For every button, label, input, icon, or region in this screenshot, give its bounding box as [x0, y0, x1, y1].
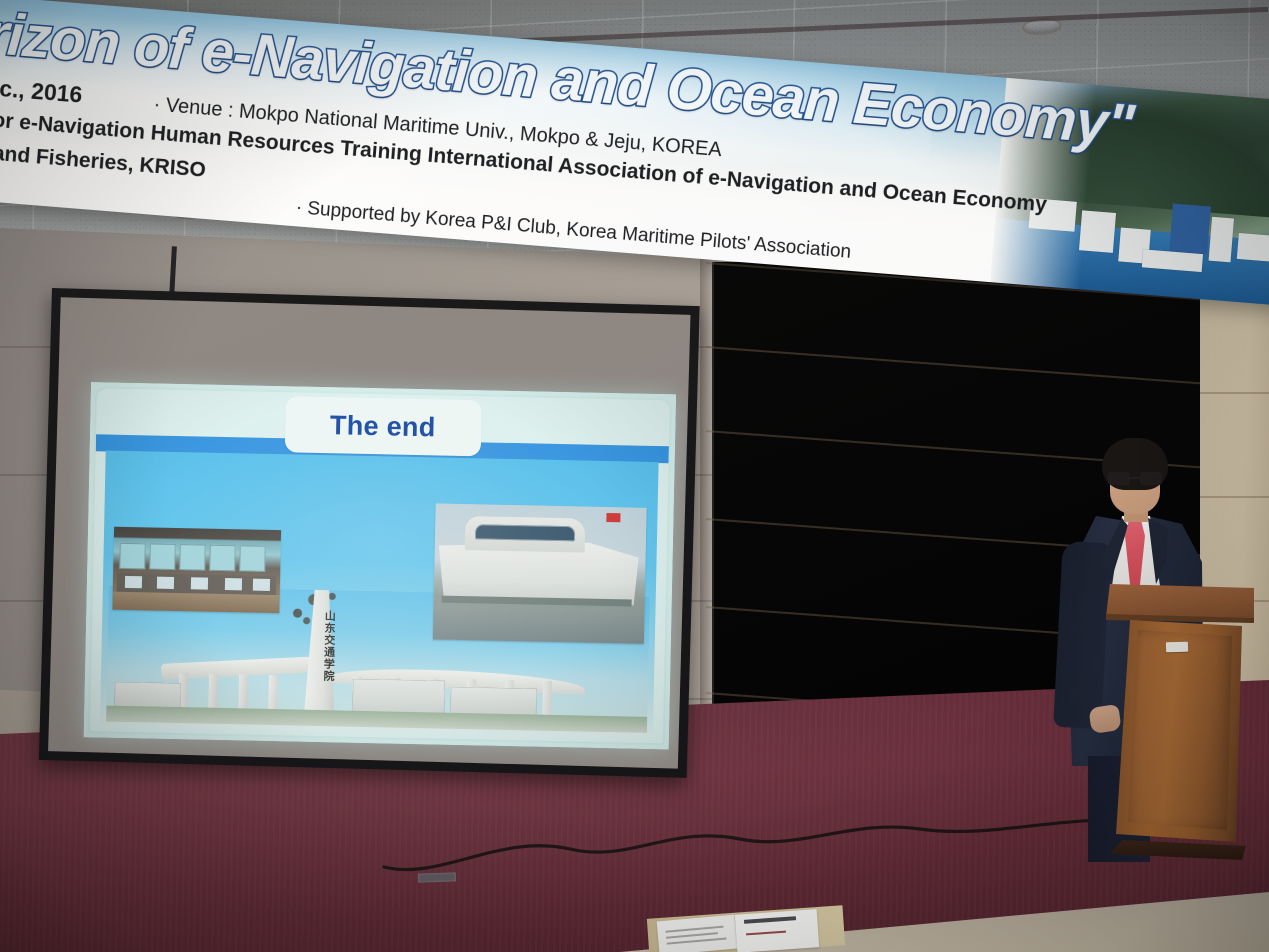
podium-sticker: [1166, 642, 1188, 653]
slide-title-box: The end: [284, 396, 481, 456]
podium-base: [1110, 840, 1250, 860]
document-page-left: [657, 915, 738, 952]
podium-front-panel: [1128, 630, 1232, 830]
projection-screen: The end: [39, 288, 700, 778]
screen-frame: The end: [39, 288, 700, 778]
bridge-simulator-photo: [112, 527, 281, 613]
slide-body: 山东交通学院: [100, 450, 659, 737]
glasses-icon: [1108, 472, 1164, 485]
slide-title: The end: [330, 410, 436, 443]
presentation-hall-photo: Horizon of e-Navigation and Ocean Econom…: [0, 0, 1269, 952]
training-vessel-photo: [433, 503, 647, 643]
floor-outlet-plate: [418, 872, 456, 882]
monument-inscription: 山东交通学院: [307, 610, 337, 683]
presenter-arm: [1053, 541, 1111, 729]
podium-top: [1106, 584, 1254, 620]
projected-slide: The end: [84, 382, 676, 749]
chinese-flag-icon: [606, 513, 620, 522]
podium: [1106, 584, 1254, 860]
floor-documents: [648, 898, 868, 952]
